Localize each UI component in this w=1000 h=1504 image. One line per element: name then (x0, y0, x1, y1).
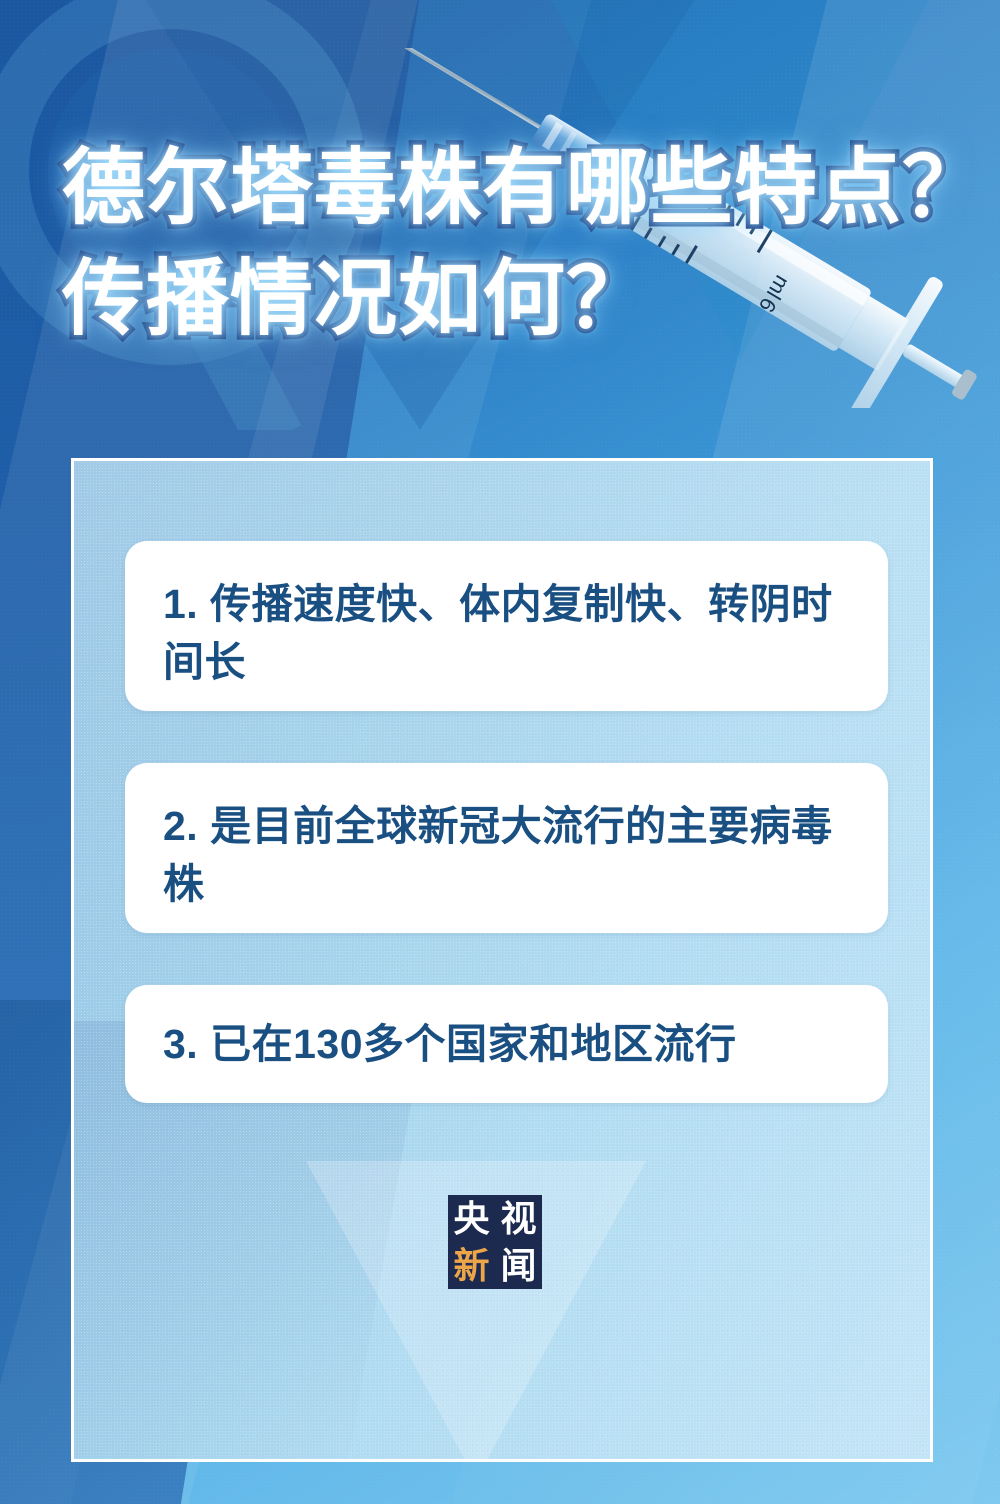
logo-char-3: 新 (453, 1248, 489, 1284)
title-line-2: 传播情况如何？ (62, 243, 962, 354)
logo-char-2: 视 (500, 1201, 536, 1237)
fact-card-1: 1. 传播速度快、体内复制快、转阴时间长 (125, 541, 888, 711)
fact-card-list: 1. 传播速度快、体内复制快、转阴时间长 2. 是目前全球新冠大流行的主要病毒株… (125, 541, 888, 1155)
logo-char-1: 央 (453, 1201, 489, 1237)
fact-card-3-text: 3. 已在130多个国家和地区流行 (163, 1015, 737, 1073)
cctv-news-logo: 央 视 新 闻 (448, 1195, 542, 1289)
fact-card-1-text: 1. 传播速度快、体内复制快、转阴时间长 (163, 575, 852, 691)
title-line-1: 德尔塔毒株有哪些特点？ (62, 132, 962, 243)
poster-canvas: ml 6 德尔塔毒株有哪些特点？ 传播情况如何？ 1. 传播速度快、体内复制快、… (0, 0, 1000, 1504)
logo-char-4: 闻 (500, 1248, 536, 1284)
content-panel: 1. 传播速度快、体内复制快、转阴时间长 2. 是目前全球新冠大流行的主要病毒株… (71, 458, 933, 1462)
fact-card-3: 3. 已在130多个国家和地区流行 (125, 985, 888, 1103)
poster-title: 德尔塔毒株有哪些特点？ 传播情况如何？ (62, 132, 962, 354)
fact-card-2: 2. 是目前全球新冠大流行的主要病毒株 (125, 763, 888, 933)
fact-card-2-text: 2. 是目前全球新冠大流行的主要病毒株 (163, 797, 852, 913)
